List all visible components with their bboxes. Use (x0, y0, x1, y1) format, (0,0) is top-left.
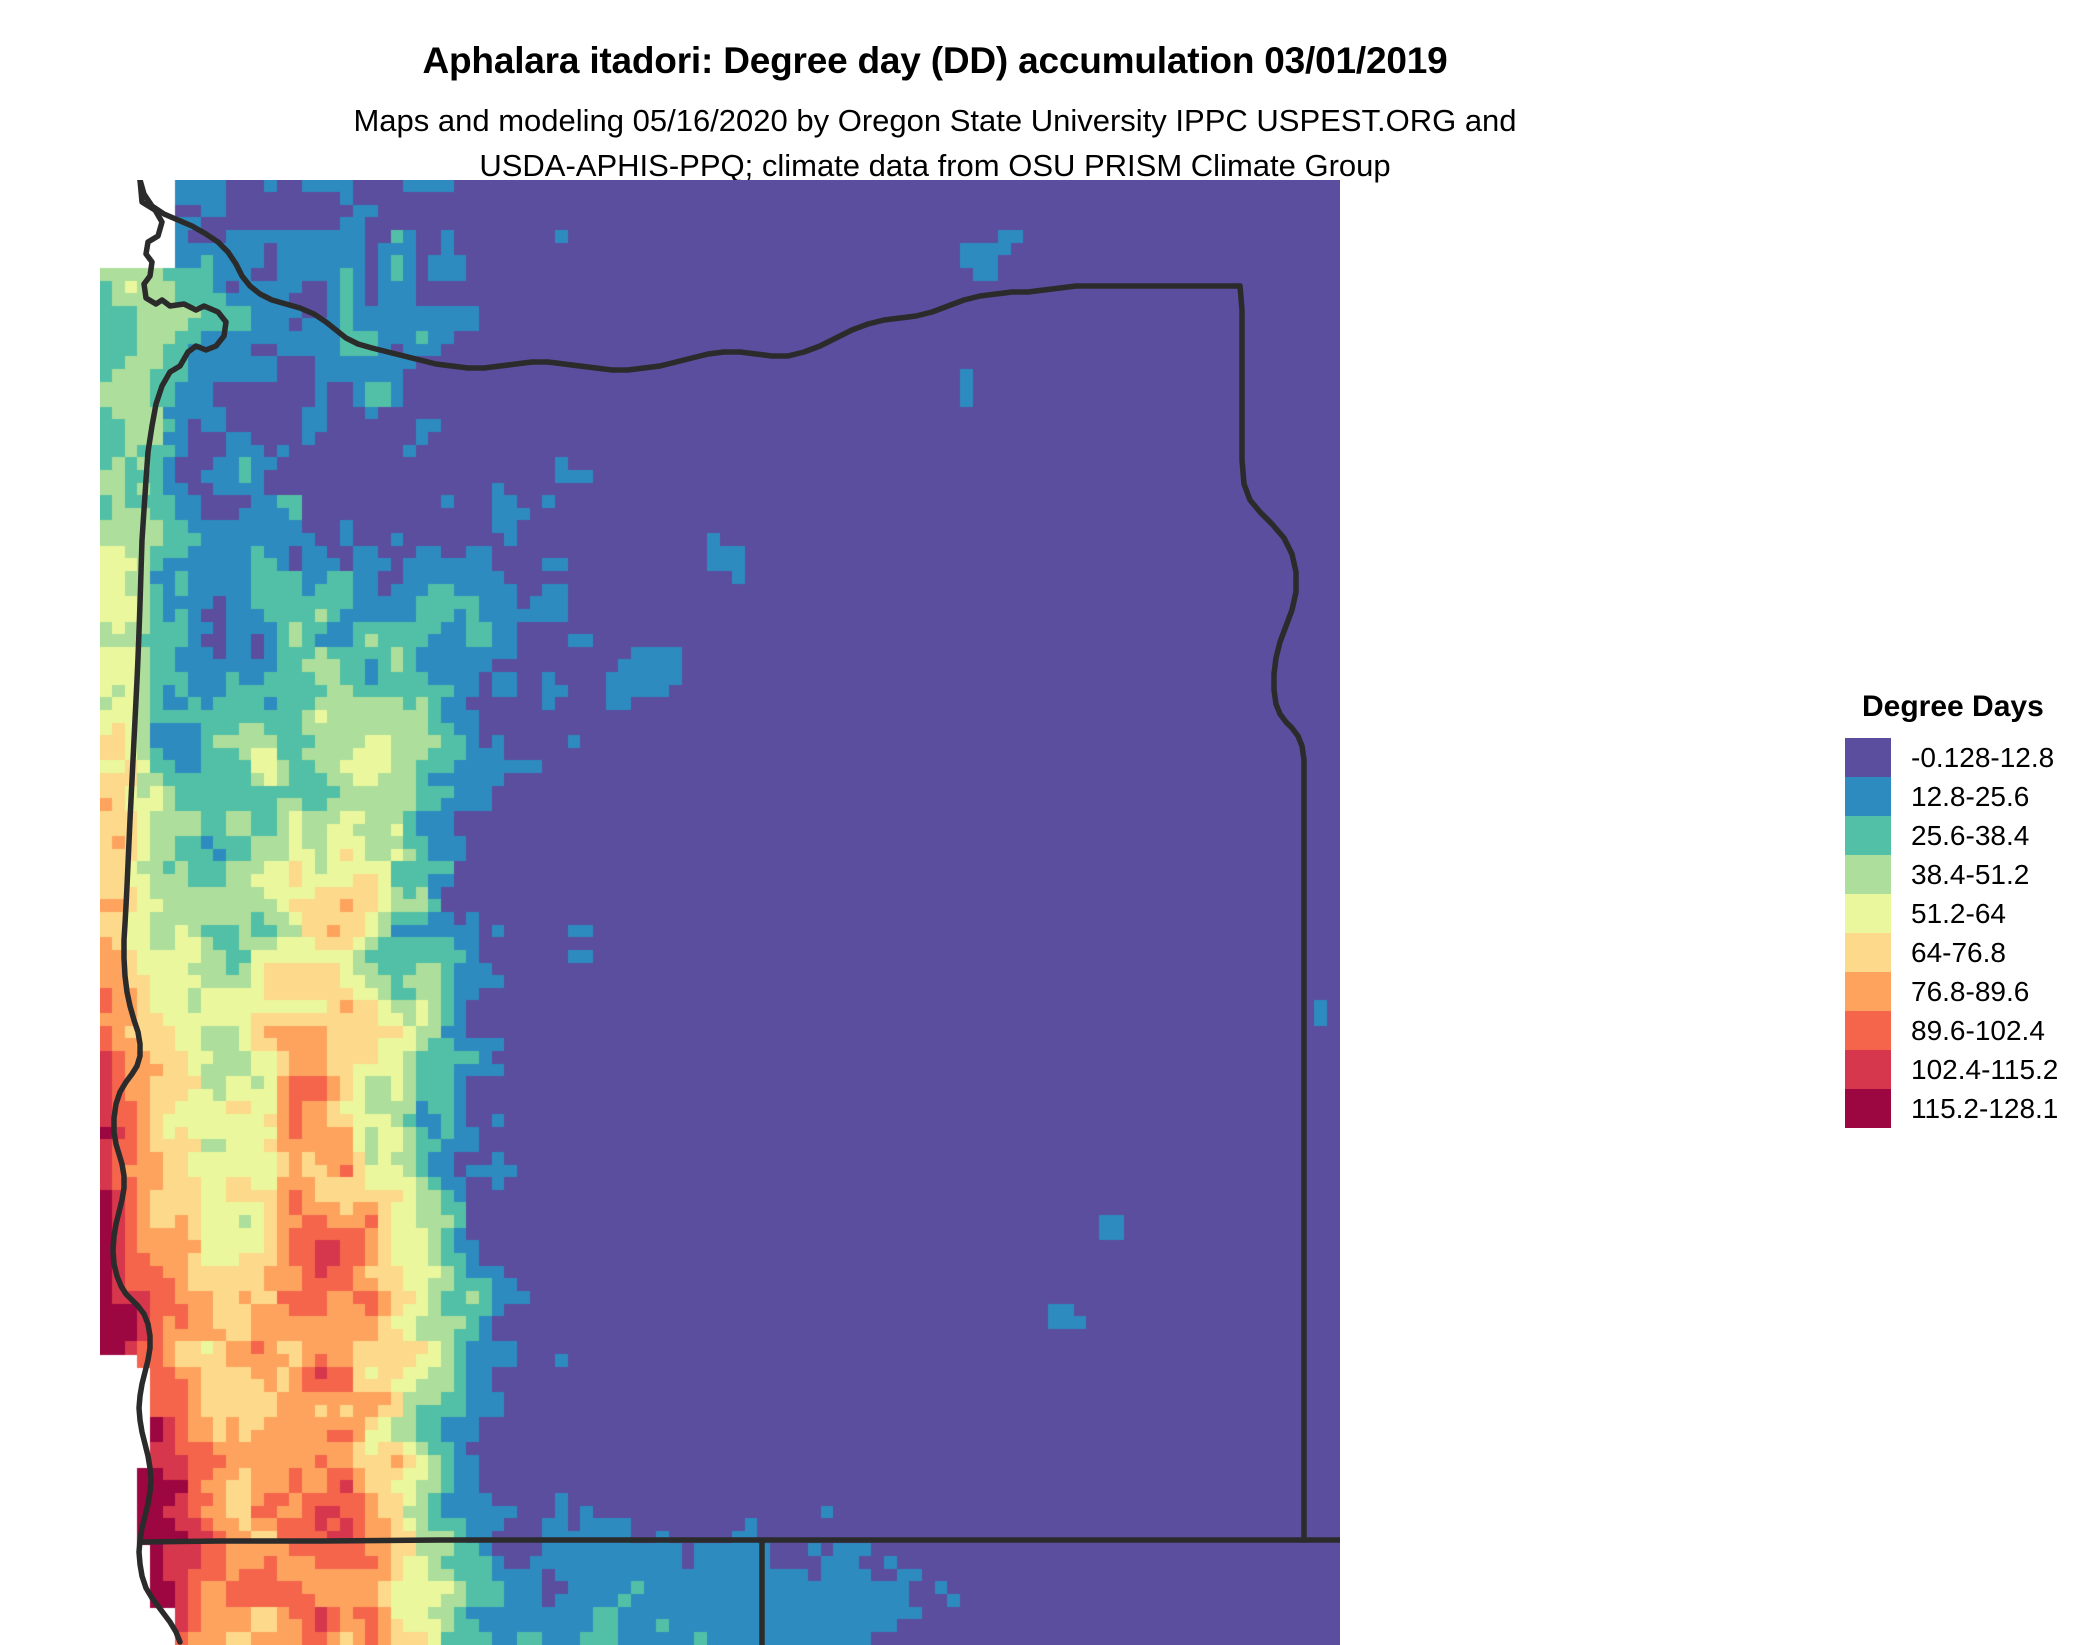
legend-color-swatch (1845, 972, 1891, 1011)
legend-entry: 102.4-115.2 (1845, 1050, 2095, 1089)
legend-entry: 115.2-128.1 (1845, 1089, 2095, 1128)
legend-entry: 64-76.8 (1845, 933, 2095, 972)
legend-panel: Degree Days -0.128-12.812.8-25.625.6-38.… (1845, 690, 2095, 1128)
legend-title: Degree Days (1862, 690, 2095, 724)
legend-entry-label: -0.128-12.8 (1911, 742, 2054, 774)
subtitle-line-1: Maps and modeling 05/16/2020 by Oregon S… (0, 98, 1870, 143)
legend-color-swatch (1845, 1050, 1891, 1089)
legend-color-swatch (1845, 894, 1891, 933)
legend-entry-label: 64-76.8 (1911, 937, 2006, 969)
legend-color-swatch (1845, 1011, 1891, 1050)
legend-entry-label: 38.4-51.2 (1911, 859, 2029, 891)
legend-entry-label: 51.2-64 (1911, 898, 2006, 930)
legend-entry: -0.128-12.8 (1845, 738, 2095, 777)
legend-entry-label: 25.6-38.4 (1911, 820, 2029, 852)
legend-color-swatch (1845, 933, 1891, 972)
legend-entry: 89.6-102.4 (1845, 1011, 2095, 1050)
legend-entry: 12.8-25.6 (1845, 777, 2095, 816)
legend-entry-label: 115.2-128.1 (1911, 1093, 2058, 1125)
legend-color-swatch (1845, 816, 1891, 855)
legend-entry: 38.4-51.2 (1845, 855, 2095, 894)
legend-entry: 76.8-89.6 (1845, 972, 2095, 1011)
legend-color-swatch (1845, 855, 1891, 894)
legend-entry-label: 102.4-115.2 (1911, 1054, 2058, 1086)
legend-color-swatch (1845, 1089, 1891, 1128)
legend-entry: 51.2-64 (1845, 894, 2095, 933)
page-subtitle: Maps and modeling 05/16/2020 by Oregon S… (0, 98, 1870, 188)
legend-entry-label: 12.8-25.6 (1911, 781, 2029, 813)
legend-color-swatch (1845, 738, 1891, 777)
legend-entry-label: 89.6-102.4 (1911, 1015, 2045, 1047)
legend-entry-label: 76.8-89.6 (1911, 976, 2029, 1008)
page-title: Aphalara itadori: Degree day (DD) accumu… (0, 40, 1870, 82)
legend-color-swatch (1845, 777, 1891, 816)
degree-day-heatmap-canvas (100, 180, 1340, 1645)
map-raster-panel (100, 180, 1340, 1645)
legend-entry: 25.6-38.4 (1845, 816, 2095, 855)
legend-entry-list: -0.128-12.812.8-25.625.6-38.438.4-51.251… (1845, 738, 2095, 1128)
